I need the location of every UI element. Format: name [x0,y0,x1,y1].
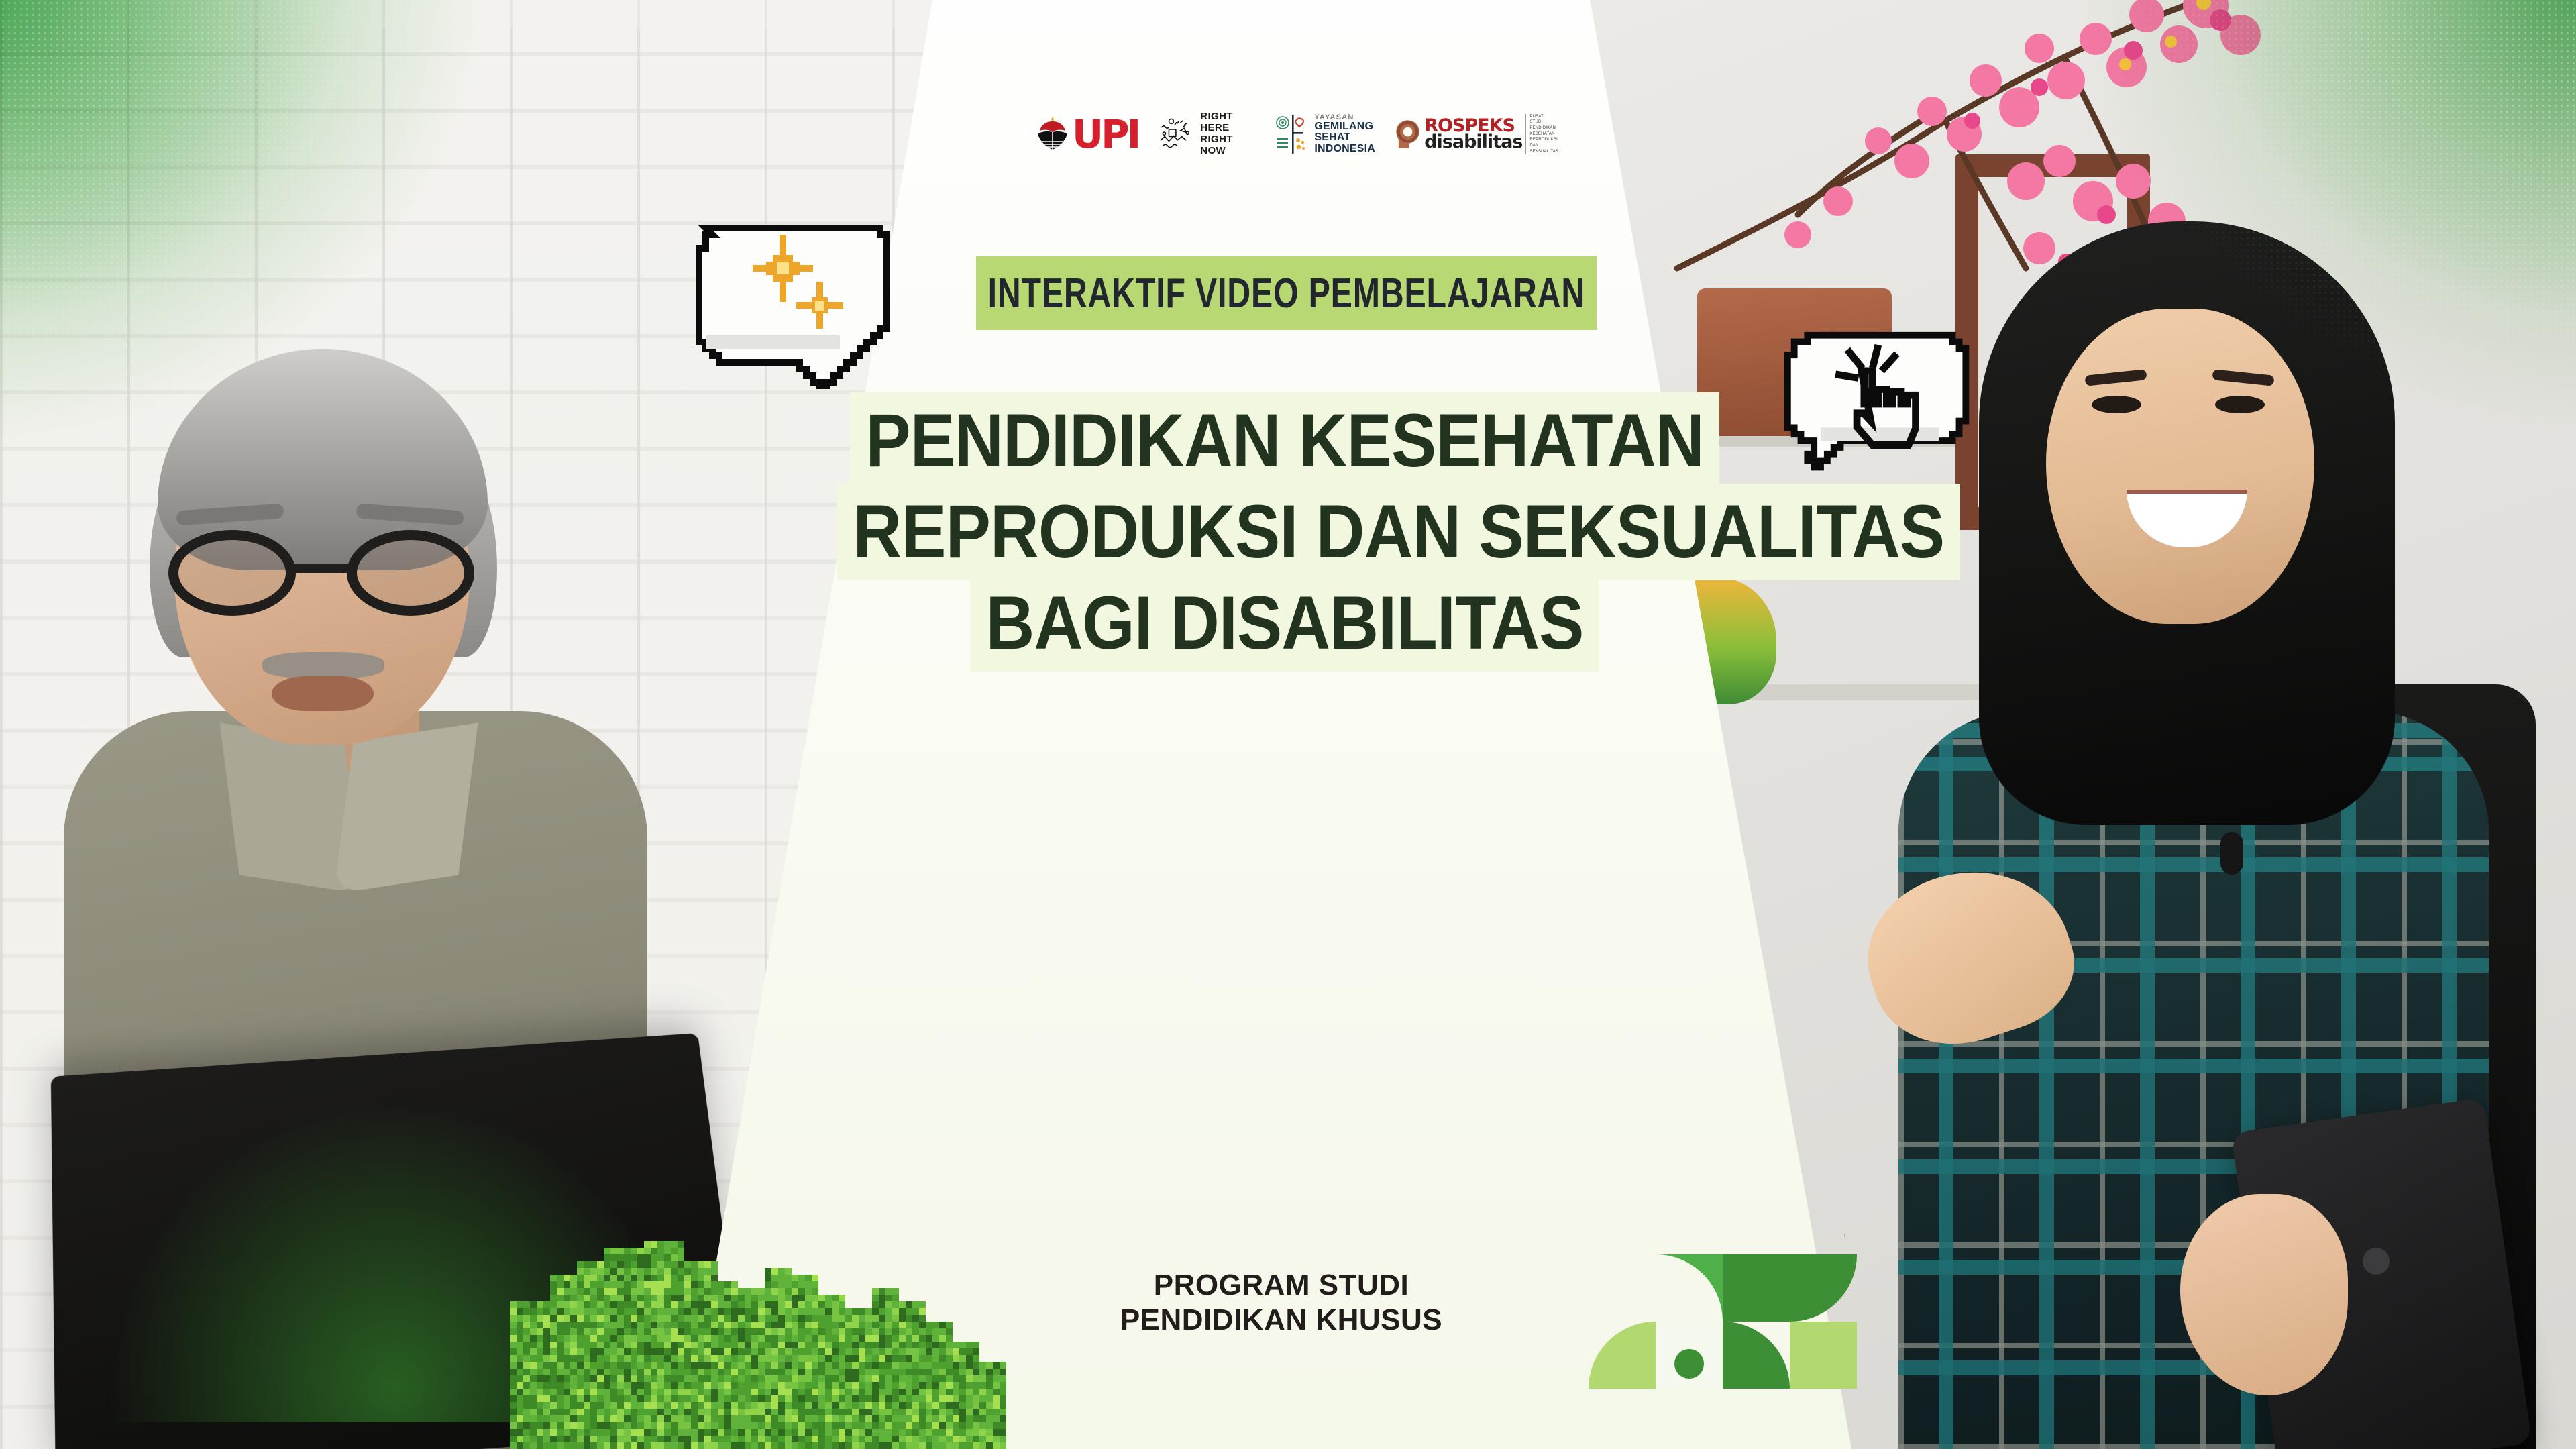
gemilang-line2: SEHAT [1314,132,1375,143]
partner-logo-row: UPI RIGHT HERE RIGHT NOW [1033,104,1563,164]
geometric-decoration [1580,1234,1919,1449]
page-title-line2: REPRODUKSI DAN SEKSUALITAS [837,484,1960,580]
dot-1 [1674,1349,1704,1379]
gemilang-emblem-icon [1275,113,1309,155]
upi-wordmark: UPI [1072,119,1138,150]
presenter-left-mouth [272,676,374,711]
tablet-camera-icon [2363,1248,2390,1275]
page-title-line3: BAGI DISABILITAS [970,575,1599,672]
glasses-lens-right [347,530,474,616]
presenter-left-moustache [262,652,384,679]
presenter-right-eye-left [2092,396,2141,413]
glasses-bridge [292,563,356,573]
presenter-right-eye-right [2215,396,2265,413]
sparkle-small-core [815,301,824,311]
page-title-line1: PENDIDIKAN KESEHATAN [850,392,1719,489]
cover-stage: UPI RIGHT HERE RIGHT NOW [0,0,2576,1449]
click-cursor-speech-bubble [1781,327,1979,482]
lapel-mic-right-icon [2220,832,2243,875]
glasses-icon [164,530,486,617]
prospeks-word2: disabilitas [1424,134,1522,150]
program-footer-line1: PROGRAM STUDI [1046,1268,1516,1303]
quarter-circle-5 [1723,1322,1790,1389]
category-banner: INTERAKTIF VIDEO PEMBELAJARAN [976,256,1597,330]
prospeks-head-icon [1394,115,1421,153]
rhrn-line1: RIGHT HERE [1200,111,1256,134]
prospeks-sub-5: REPRODUKSI [1529,137,1563,143]
gemilang-line3: INDONESIA [1314,144,1375,154]
prospeks-sub-4: KESEHATAN [1529,131,1563,138]
bubble-shadow-band-2 [1821,427,1939,441]
pixel-bush [510,1228,1006,1449]
upi-emblem-icon [1033,113,1072,155]
program-footer-line2: PENDIDIKAN KHUSUS [1046,1303,1516,1338]
rhrn-wordmark: RIGHT HERE RIGHT NOW [1200,111,1256,156]
presenter-left-collar-right [333,722,478,894]
square-2 [1790,1322,1857,1389]
quarter-circle-1 [1778,1234,1845,1241]
glasses-lens-left [168,530,296,616]
bubble-shadow-band [706,335,840,349]
square-1 [1723,1254,1790,1322]
rhrn-line2: RIGHT NOW [1200,134,1256,157]
rhrn-doodle-icon [1157,114,1193,154]
category-banner-label: INTERAKTIF VIDEO PEMBELAJARAN [987,270,1585,317]
quarter-circle-3 [1790,1254,1857,1322]
right-here-right-now-logo: RIGHT HERE RIGHT NOW [1157,111,1256,156]
prospeks-wordmark: ROSPEKS disabilitas [1424,118,1522,150]
yayasan-gemilang-sehat-indonesia-logo: YAYASAN GEMILANG SEHAT INDONESIA [1275,113,1375,155]
upi-logo: UPI [1033,113,1138,155]
prospeks-sub-3: PENDIDIKAN [1529,125,1563,131]
program-footer: PROGRAM STUDI PENDIDIKAN KHUSUS [1046,1268,1516,1338]
quarter-circle-2 [1656,1254,1723,1322]
prospeks-sub-1: PUSAT [1529,114,1563,120]
page-title: PENDIDIKAN KESEHATAN REPRODUKSI DAN SEKS… [775,392,1794,672]
prospeks-sidebar-text: PUSAT STUDI PENDIDIKAN KESEHATAN REPRODU… [1525,114,1563,155]
prospeks-disabilitas-logo: ROSPEKS disabilitas PUSAT STUDI PENDIDIK… [1394,114,1563,155]
presenter-right-face [2046,309,2314,624]
gemilang-wordmark: YAYASAN GEMILANG SEHAT INDONESIA [1314,114,1375,155]
gemilang-line1: GEMILANG [1314,121,1375,132]
quarter-circle-4 [1589,1322,1656,1389]
prospeks-sub-6: DAN SEKSUALITAS [1529,143,1563,154]
prospeks-sub-2: STUDI [1529,119,1563,125]
sparkle-large-core [777,262,789,274]
sparkle-speech-bubble [686,221,900,389]
